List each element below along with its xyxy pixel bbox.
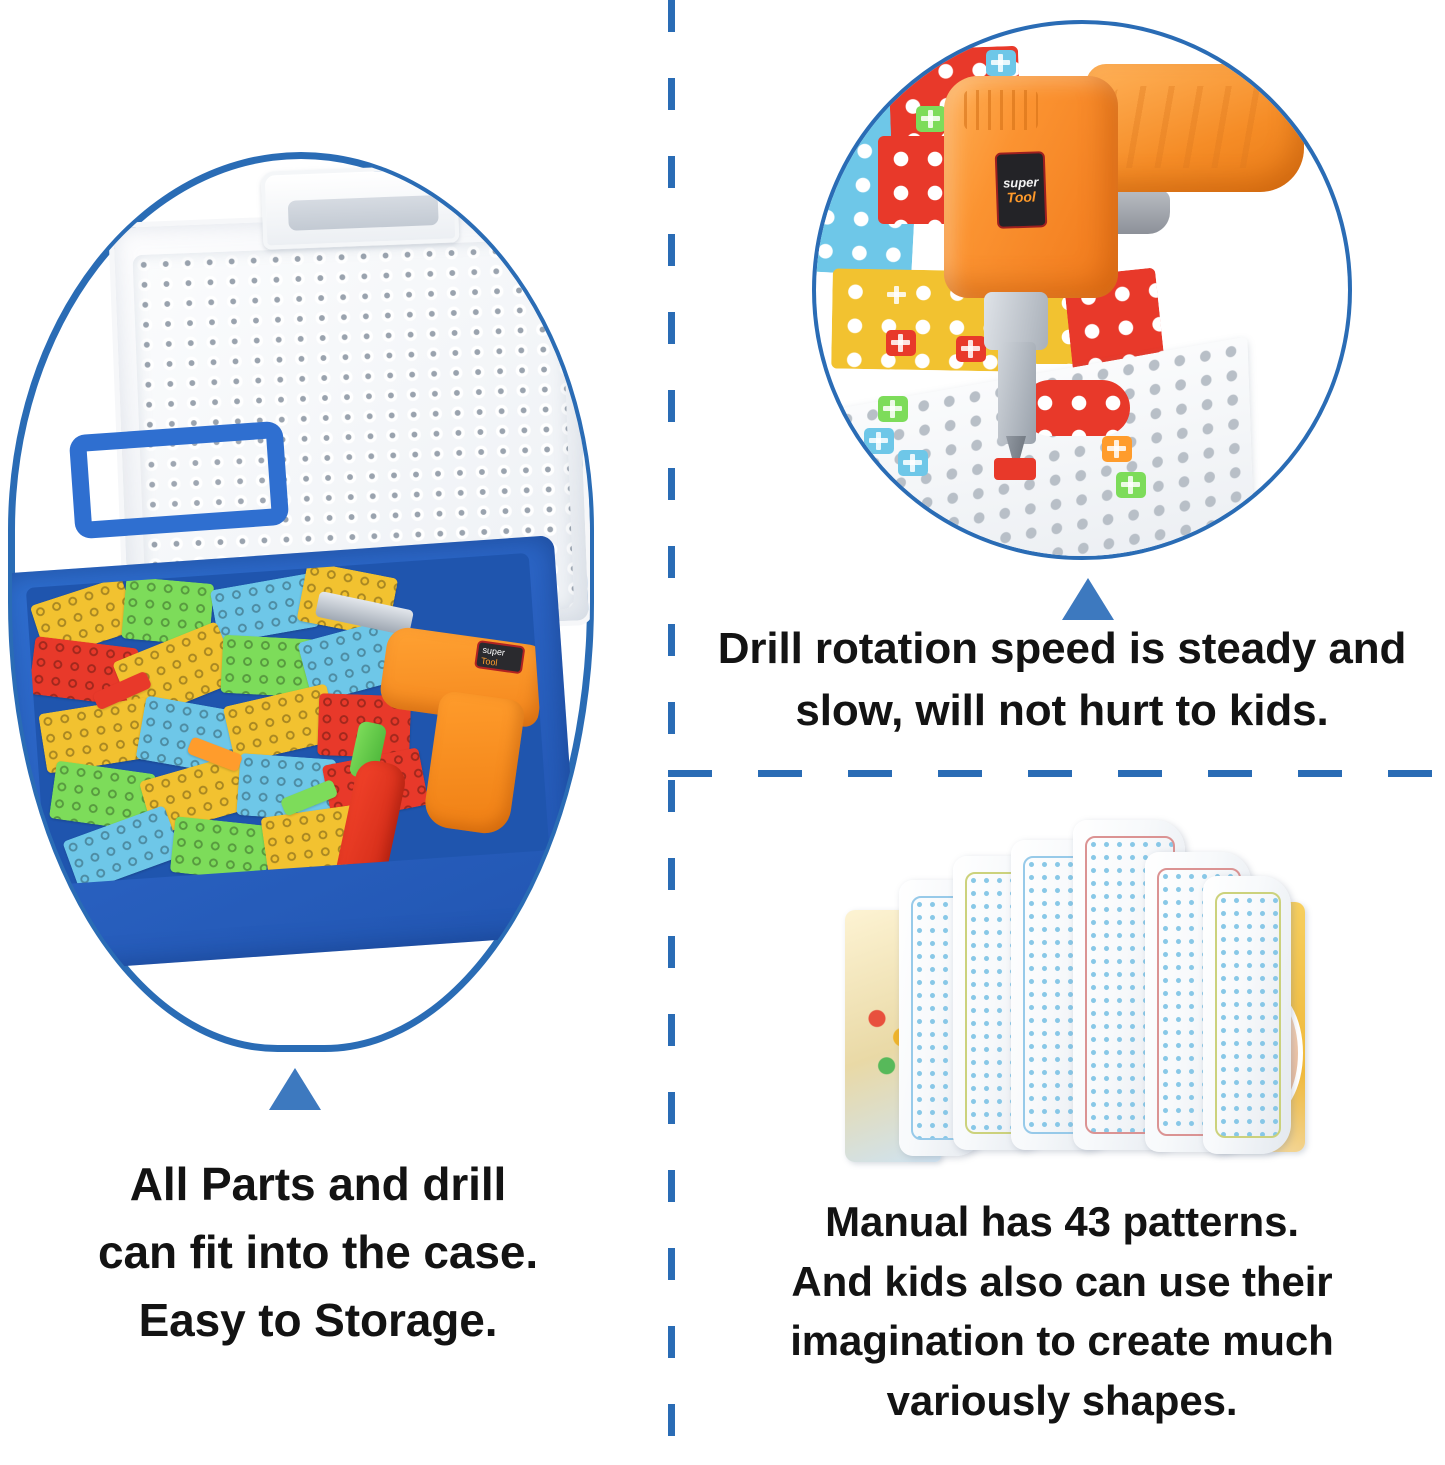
caption-line: Manual has 43 patterns.: [682, 1192, 1442, 1252]
toy-part: [170, 816, 271, 882]
toy-drill-grip: [422, 690, 526, 837]
triangle-up-icon-case: [269, 1068, 321, 1110]
toy-screw: [864, 428, 894, 454]
mosaic-tile: [1022, 380, 1130, 436]
case-base-handle: [69, 421, 290, 540]
toy-screw: [956, 336, 986, 362]
caption-line: All Parts and drill: [18, 1150, 618, 1218]
triangle-up-icon-drill: [1062, 578, 1114, 620]
horizontal-dashed-divider: [668, 770, 1445, 777]
caption-drill: Drill rotation speed is steady and slow,…: [682, 618, 1442, 743]
tool-case-photo: super Tool: [12, 156, 590, 1048]
drill-brand-label: super Tool: [995, 151, 1048, 229]
case-base-interior: super Tool: [26, 553, 550, 885]
caption-line: And kids also can use their: [682, 1252, 1442, 1312]
pattern-dots: [1215, 892, 1281, 1138]
caption-tool-case: All Parts and drill can fit into the cas…: [18, 1150, 618, 1354]
toy-screw: [1116, 472, 1146, 498]
case-lid-handle: [261, 164, 460, 249]
toy-screw: [882, 282, 912, 308]
panel-tool-case: super Tool: [8, 152, 594, 1052]
target-screw: [994, 458, 1036, 480]
manual-page: [1203, 876, 1291, 1154]
drill-closeup-photo: super Tool: [816, 24, 1348, 556]
toy-screw: [986, 50, 1016, 76]
toy-screw: [878, 396, 908, 422]
caption-line: Drill rotation speed is steady and: [682, 618, 1442, 680]
caption-manual: Manual has 43 patterns. And kids also ca…: [682, 1192, 1442, 1431]
case-base-tray: super Tool: [12, 535, 581, 973]
panel-manual: [845, 806, 1305, 1178]
caption-line: can fit into the case.: [18, 1218, 618, 1286]
drill-handle: [1086, 64, 1304, 192]
toy-screw: [916, 106, 946, 132]
caption-line: variously shapes.: [682, 1371, 1442, 1431]
infographic-page: super Tool All Parts and drill can fit i…: [0, 0, 1445, 1465]
toy-screw: [1102, 436, 1132, 462]
drill-label-line2: Tool: [1006, 189, 1036, 205]
drill-bit-shaft: [998, 342, 1036, 444]
toy-screw: [898, 450, 928, 476]
vertical-dashed-divider: [668, 0, 675, 1465]
drill-badge-line2: Tool: [480, 656, 498, 668]
caption-line: Easy to Storage.: [18, 1286, 618, 1354]
caption-line: imagination to create much: [682, 1311, 1442, 1371]
caption-line: slow, will not hurt to kids.: [682, 680, 1442, 742]
toy-screw: [886, 330, 916, 356]
panel-drill-closeup: super Tool: [812, 20, 1352, 560]
